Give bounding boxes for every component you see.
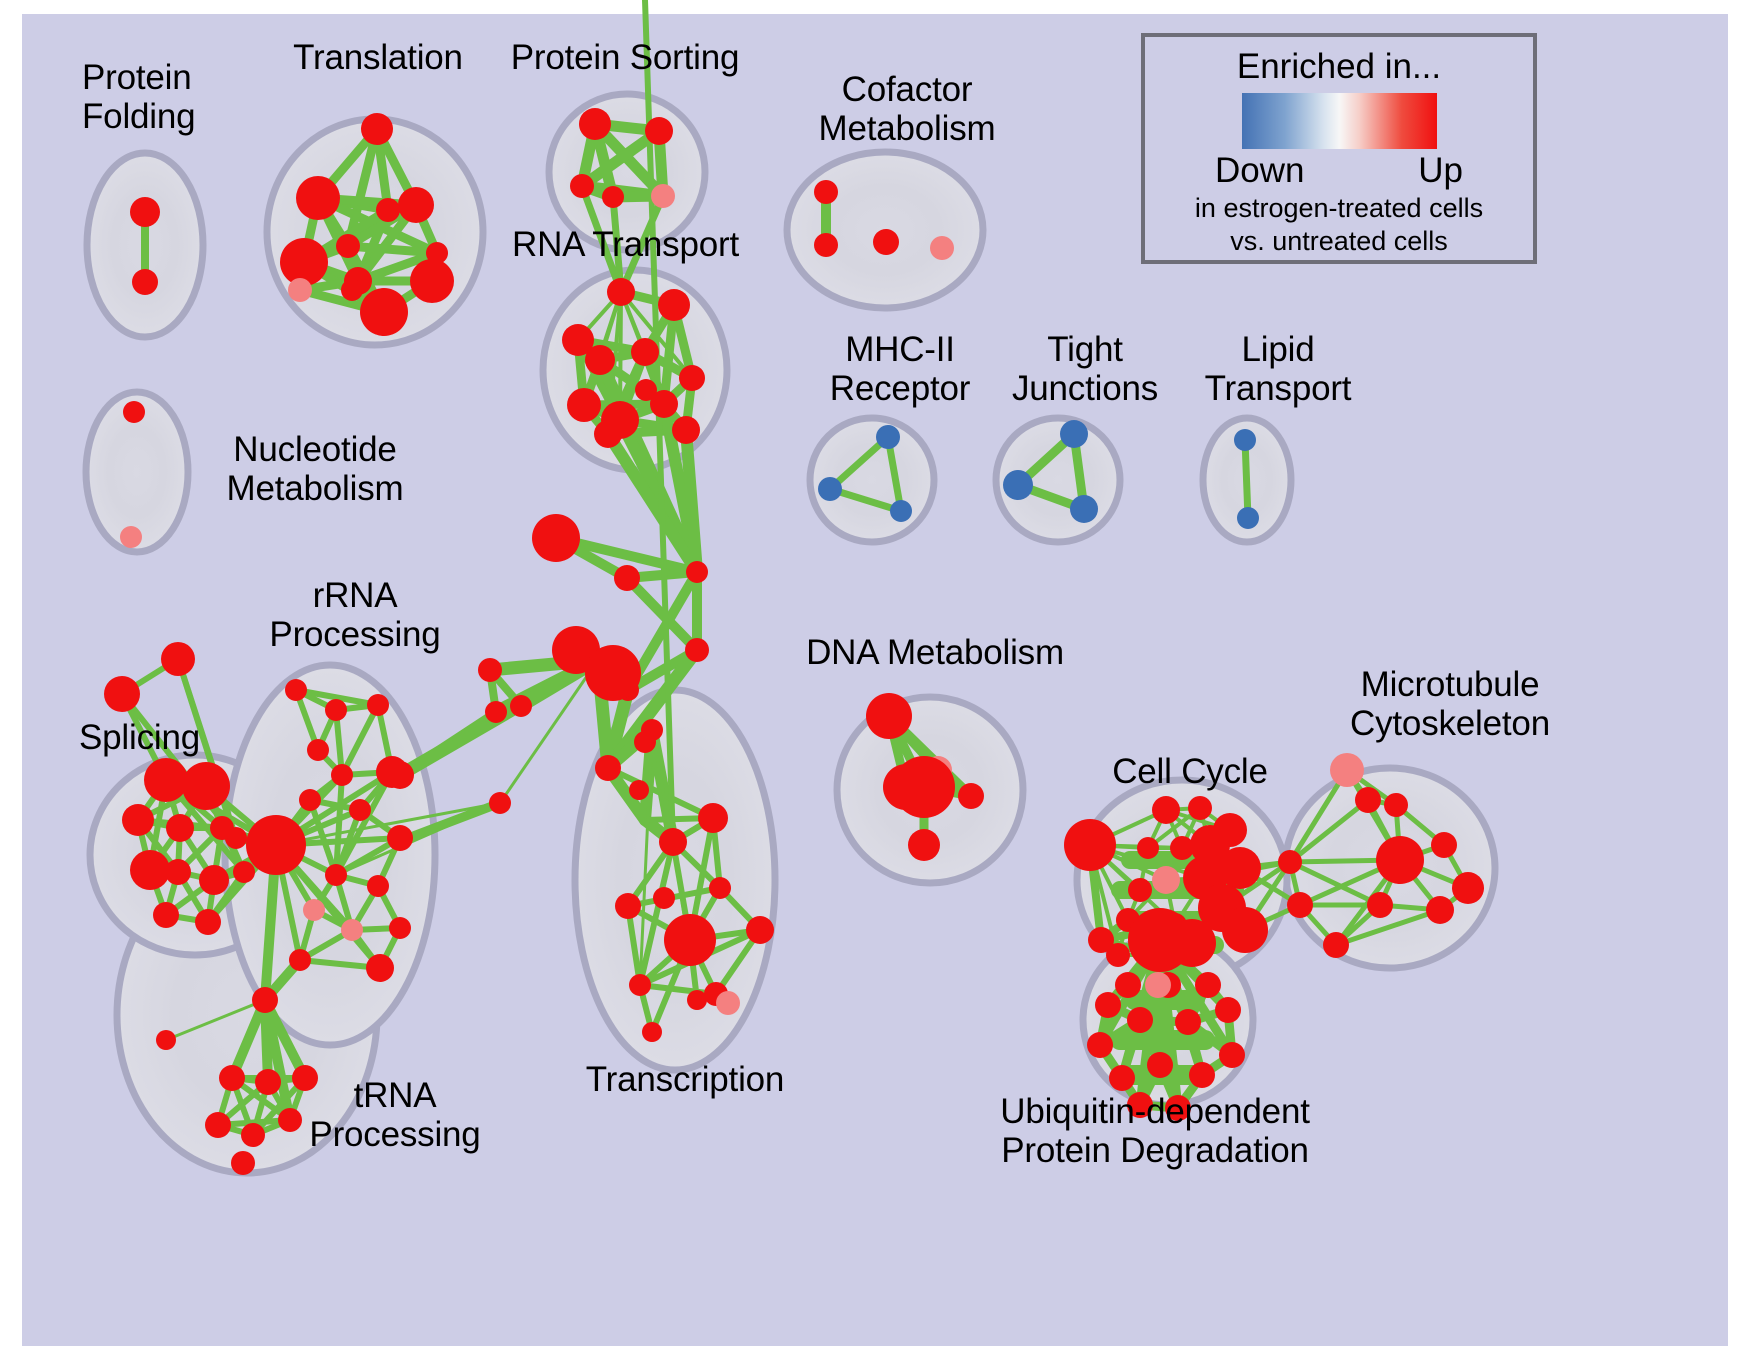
node	[635, 379, 657, 401]
node	[1088, 927, 1114, 953]
node	[893, 756, 955, 818]
node	[1087, 1032, 1113, 1058]
node	[1147, 1052, 1173, 1078]
node	[1195, 972, 1221, 998]
node	[336, 234, 360, 258]
cluster-label-dna-metabolism: DNA Metabolism	[800, 633, 1070, 672]
node	[1287, 892, 1313, 918]
node	[252, 987, 278, 1013]
cluster-label-nucleotide-metabolism: Nucleotide Metabolism	[190, 430, 440, 508]
legend-subtitle-line2: vs. untreated cells	[1230, 226, 1448, 257]
node	[478, 658, 502, 682]
node	[153, 902, 179, 928]
node	[629, 974, 651, 996]
legend-color-gradient-bar	[1242, 93, 1437, 149]
node	[1170, 836, 1194, 860]
node	[1128, 878, 1152, 902]
node	[1188, 796, 1212, 820]
node	[686, 561, 708, 583]
node	[532, 514, 580, 562]
node	[289, 949, 311, 971]
node	[360, 288, 408, 336]
node	[144, 758, 188, 802]
node	[567, 388, 601, 422]
node	[645, 117, 673, 145]
node	[485, 701, 507, 723]
node	[570, 174, 594, 198]
node	[642, 1022, 662, 1042]
node	[585, 345, 615, 375]
node	[104, 676, 140, 712]
node	[285, 679, 307, 701]
node	[231, 1151, 255, 1175]
node	[1145, 972, 1171, 998]
node	[1323, 932, 1349, 958]
cluster-label-protein-sorting: Protein Sorting	[495, 38, 755, 77]
node	[199, 865, 229, 895]
node	[958, 783, 984, 809]
node	[814, 180, 838, 204]
node	[1003, 470, 1033, 500]
node	[908, 829, 940, 861]
cluster-label-lipid-transport: Lipid Transport	[1178, 330, 1378, 408]
node	[1222, 907, 1268, 953]
node	[631, 338, 659, 366]
cluster-label-transcription: Transcription	[560, 1060, 810, 1099]
node	[602, 186, 624, 208]
node	[325, 864, 347, 886]
node	[255, 1069, 281, 1095]
node	[866, 693, 912, 739]
node	[210, 816, 234, 840]
node	[1330, 753, 1364, 787]
enrichment-map-figure: Protein Folding Translation Protein Sort…	[0, 0, 1750, 1360]
node	[130, 850, 170, 890]
node	[376, 198, 400, 222]
node	[303, 899, 325, 921]
node	[579, 108, 611, 140]
node	[398, 187, 434, 223]
cluster-label-rna-transport: RNA Transport	[498, 225, 753, 264]
node	[130, 197, 160, 227]
node	[1060, 420, 1088, 448]
node	[930, 236, 954, 260]
node	[367, 694, 389, 716]
node	[890, 500, 912, 522]
node	[818, 477, 842, 501]
node	[233, 861, 255, 883]
node	[1168, 919, 1216, 967]
node	[246, 815, 306, 875]
node	[1095, 992, 1121, 1018]
node	[1367, 892, 1393, 918]
node	[1137, 837, 1159, 859]
node	[1278, 850, 1302, 874]
cluster-label-cell-cycle: Cell Cycle	[1090, 752, 1290, 791]
node	[510, 695, 532, 717]
cluster-label-ubiquitin-protein-degradation: Ubiquitin-dependent Protein Degradation	[985, 1092, 1325, 1170]
node	[634, 731, 656, 753]
node	[165, 859, 191, 885]
node	[1234, 429, 1256, 451]
node	[1070, 495, 1098, 523]
node	[1215, 997, 1241, 1023]
node	[161, 642, 195, 676]
node	[1452, 872, 1484, 904]
cluster-label-microtubule-cytoskeleton: Microtubule Cytoskeleton	[1300, 665, 1600, 743]
node	[299, 789, 321, 811]
node	[1376, 836, 1424, 884]
node	[489, 792, 511, 814]
legend-down-label: Down	[1215, 151, 1304, 191]
node	[132, 269, 158, 295]
node	[653, 887, 675, 909]
node	[698, 803, 728, 833]
node	[331, 764, 353, 786]
node	[386, 761, 414, 789]
node	[387, 825, 413, 851]
cluster-label-trna-processing: tRNA Processing	[290, 1076, 500, 1154]
node	[341, 919, 363, 941]
legend-title: Enriched in...	[1237, 47, 1441, 87]
node	[629, 780, 649, 800]
node	[1355, 787, 1381, 813]
node	[1115, 972, 1141, 998]
node	[205, 1112, 231, 1138]
node	[1426, 896, 1454, 924]
node	[594, 420, 622, 448]
cluster-label-splicing: Splicing	[52, 718, 227, 757]
node	[716, 991, 740, 1015]
node	[1152, 796, 1180, 824]
node	[658, 289, 690, 321]
node	[341, 279, 363, 301]
node	[182, 762, 230, 810]
cluster-label-rrna-processing: rRNA Processing	[250, 576, 460, 654]
legend-endpoint-labels: Down Up	[1215, 151, 1463, 191]
legend-box: Enriched in... Down Up in estrogen-treat…	[1141, 33, 1537, 264]
cluster-label-translation: Translation	[258, 38, 498, 77]
node	[614, 565, 640, 591]
node	[607, 278, 635, 306]
node	[219, 1065, 245, 1091]
node	[672, 416, 700, 444]
node	[873, 229, 899, 255]
node	[389, 917, 411, 939]
node	[367, 875, 389, 897]
node	[1064, 819, 1116, 871]
node	[166, 814, 194, 842]
cluster-label-mhc-ii-receptor: MHC-II Receptor	[795, 330, 1005, 408]
node	[120, 526, 142, 548]
node	[746, 916, 774, 944]
node	[664, 914, 716, 966]
node	[679, 365, 705, 391]
node	[1384, 793, 1408, 817]
node	[123, 401, 145, 423]
node	[1109, 1065, 1135, 1091]
node	[1219, 1042, 1245, 1068]
node	[156, 1030, 176, 1050]
node	[1152, 866, 1180, 894]
node	[1175, 1009, 1201, 1035]
node	[659, 828, 687, 856]
node	[325, 699, 347, 721]
node	[1127, 1007, 1153, 1033]
node	[814, 233, 838, 257]
legend-subtitle-line1: in estrogen-treated cells	[1195, 193, 1483, 224]
node	[1237, 507, 1259, 529]
cluster-label-tight-junctions: Tight Junctions	[985, 330, 1185, 408]
node	[122, 804, 154, 836]
node	[876, 425, 900, 449]
node	[361, 113, 393, 145]
node	[1431, 832, 1457, 858]
node	[410, 259, 454, 303]
node	[366, 954, 394, 982]
node	[595, 755, 621, 781]
node	[241, 1123, 265, 1147]
node	[687, 990, 707, 1010]
node	[651, 184, 675, 208]
node	[349, 799, 371, 821]
node	[288, 278, 312, 302]
node	[685, 638, 709, 662]
node	[307, 739, 329, 761]
legend-up-label: Up	[1418, 151, 1463, 191]
node	[615, 893, 641, 919]
node	[709, 877, 731, 899]
node	[585, 645, 641, 701]
node	[296, 176, 340, 220]
node	[195, 909, 221, 935]
cluster-label-cofactor-metabolism: Cofactor Metabolism	[782, 70, 1032, 148]
node	[1189, 1062, 1215, 1088]
